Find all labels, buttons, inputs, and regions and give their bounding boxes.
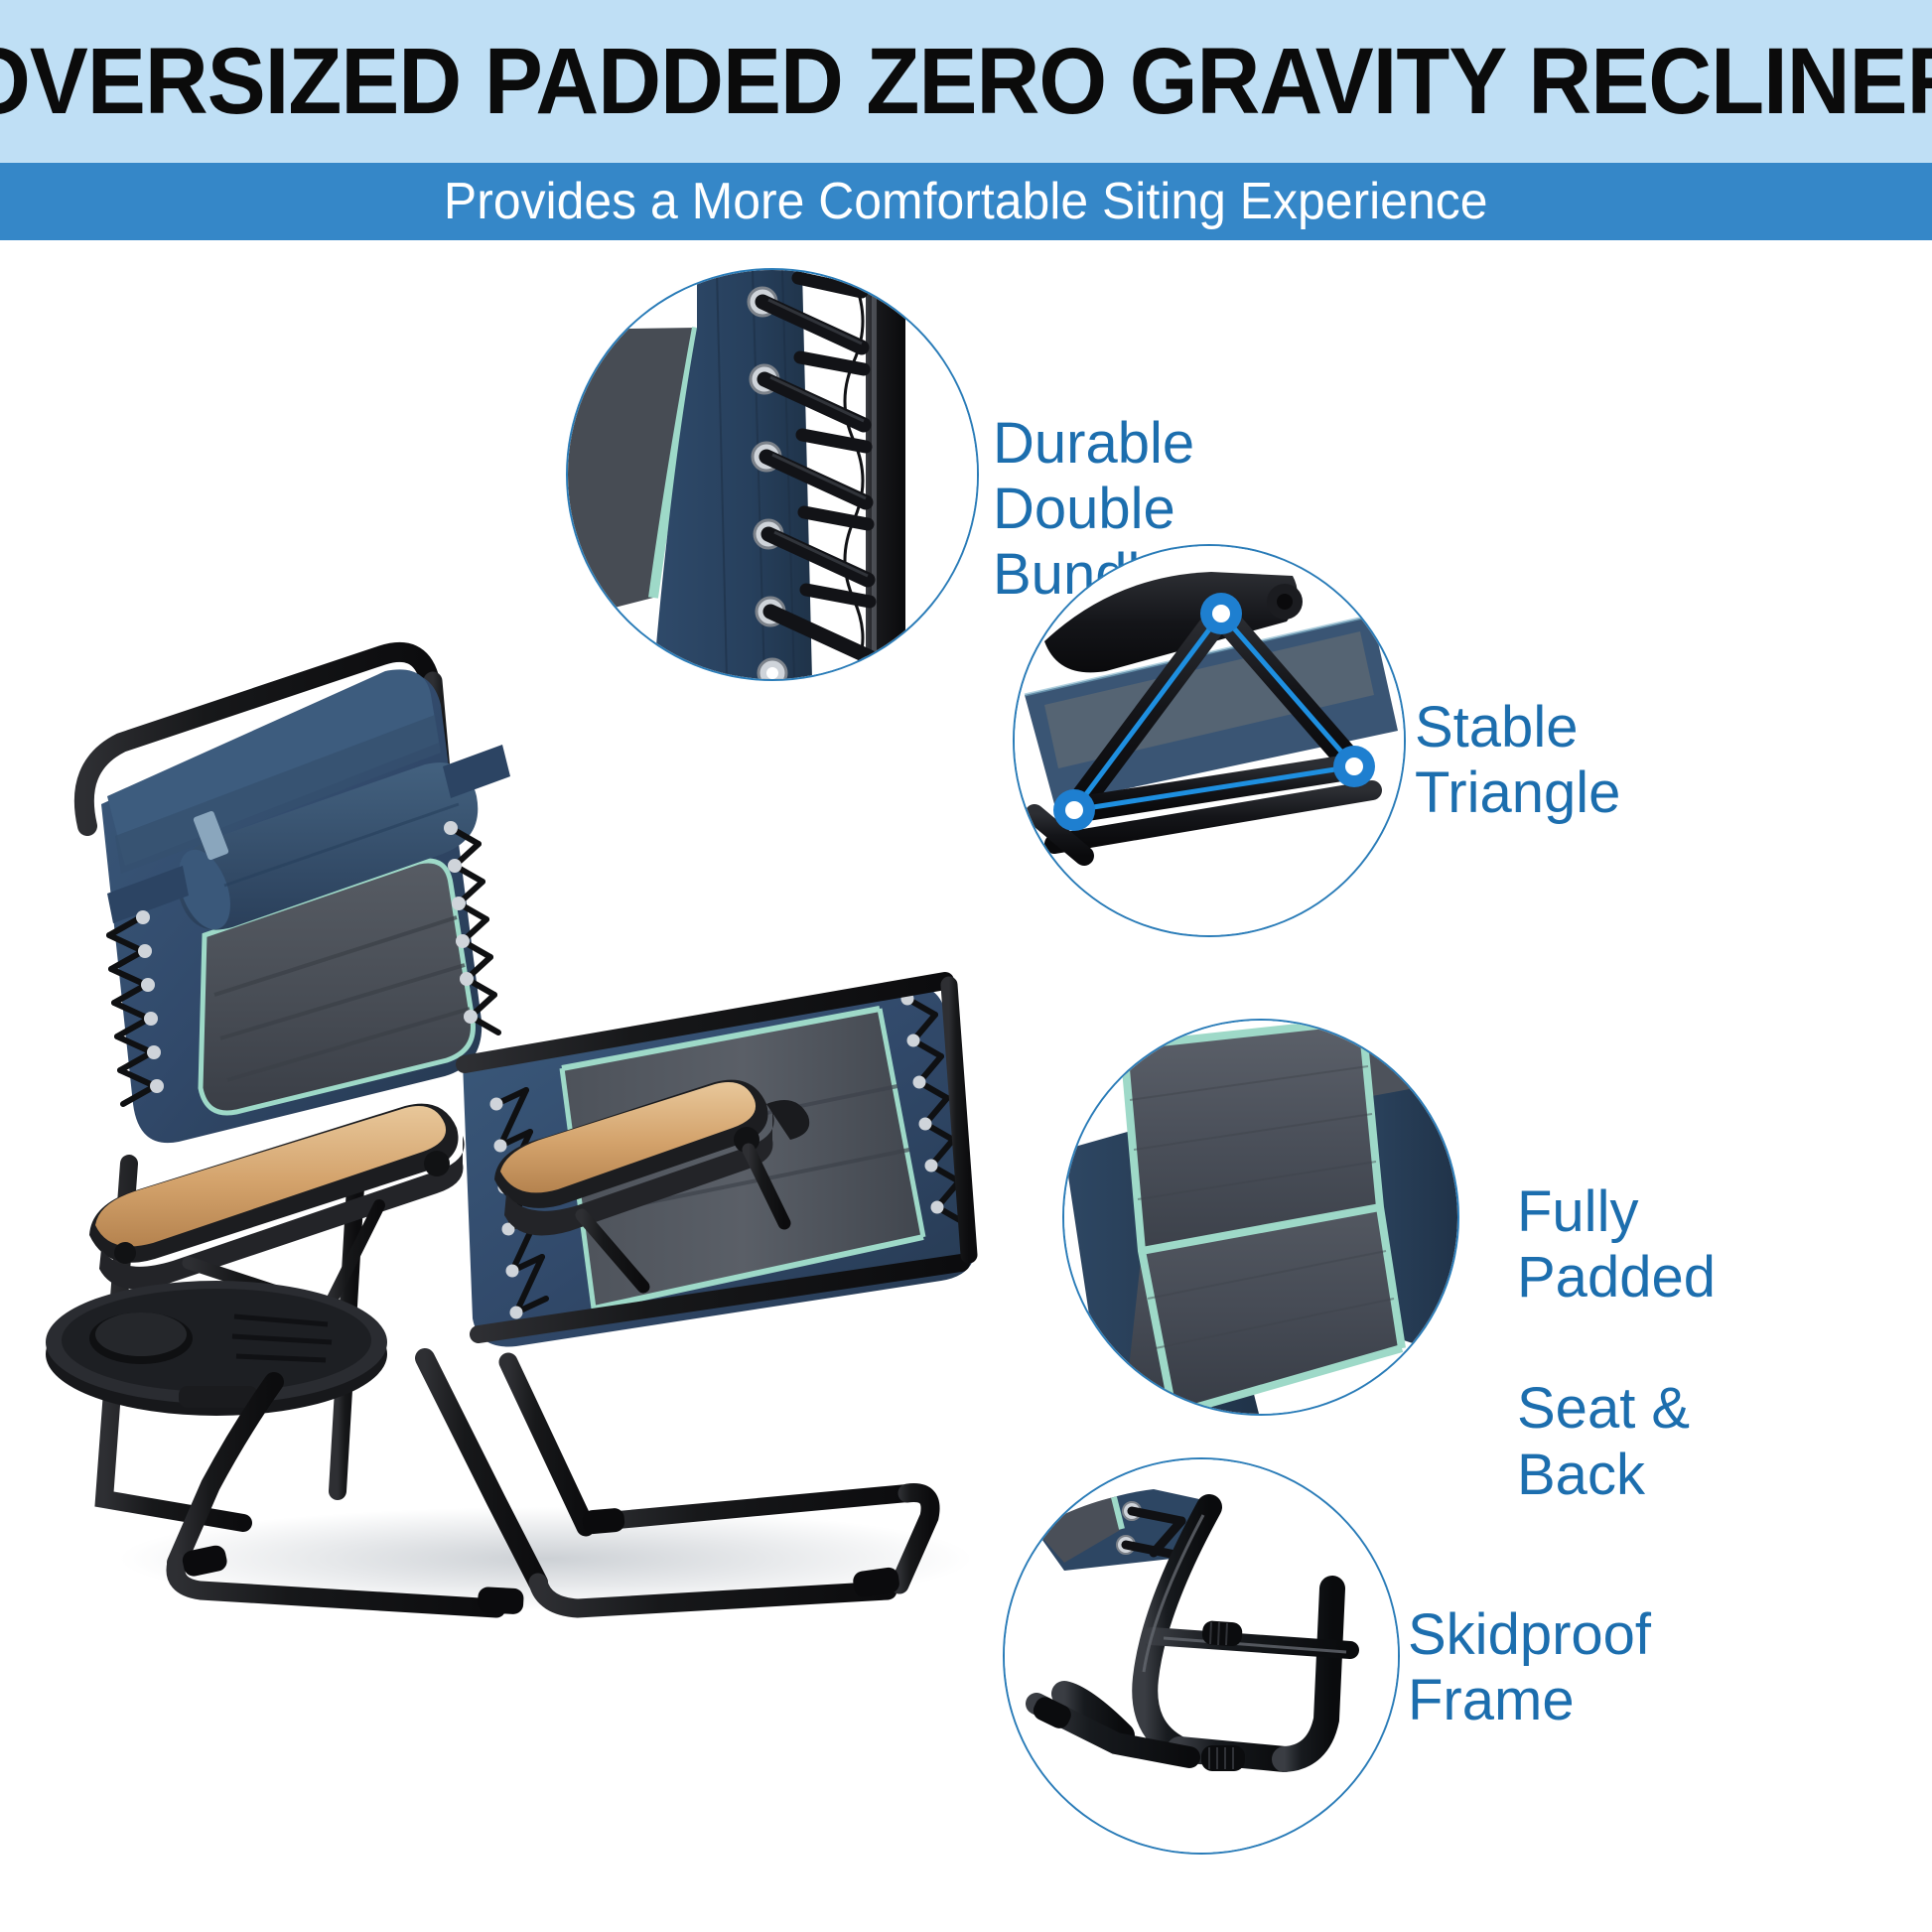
zero-gravity-recliner-illustration (30, 469, 1062, 1640)
bungee-detail-image (568, 270, 977, 679)
skidproof-frame-detail-image (1005, 1459, 1398, 1853)
header-band: OVERSIZED PADDED ZERO GRAVITY RECLINER (0, 0, 1932, 163)
subtitle-band: Provides a More Comfortable Siting Exper… (0, 163, 1932, 240)
callout-label-line-2: Seat & Back (1517, 1376, 1690, 1506)
stable-triangle-detail-image (1015, 546, 1404, 935)
product-stage: Durable Double Bundle (0, 240, 1932, 1932)
callout-label-skidproof-frame: Skidproof Frame (1408, 1602, 1651, 1733)
callout-label-line-1: Fully Padded (1517, 1179, 1716, 1310)
page-title: OVERSIZED PADDED ZERO GRAVITY RECLINER (0, 35, 1932, 129)
page-subtitle: Provides a More Comfortable Siting Exper… (444, 176, 1488, 227)
callout-circle-frame (1005, 1459, 1398, 1853)
callout-circle-bungee (568, 270, 977, 679)
callout-label-fully-padded-seat-and-back: Fully Padded Seat & Back (1517, 1114, 1716, 1508)
callout-label-stable-triangle: Stable Triangle (1415, 695, 1620, 826)
side-tray-with-cup-holder[interactable] (46, 1281, 387, 1416)
product-hero-image (30, 469, 1062, 1640)
callout-circle-triangle (1015, 546, 1404, 935)
padding-detail-image (1064, 1021, 1457, 1414)
callout-circle-padding (1064, 1021, 1457, 1414)
